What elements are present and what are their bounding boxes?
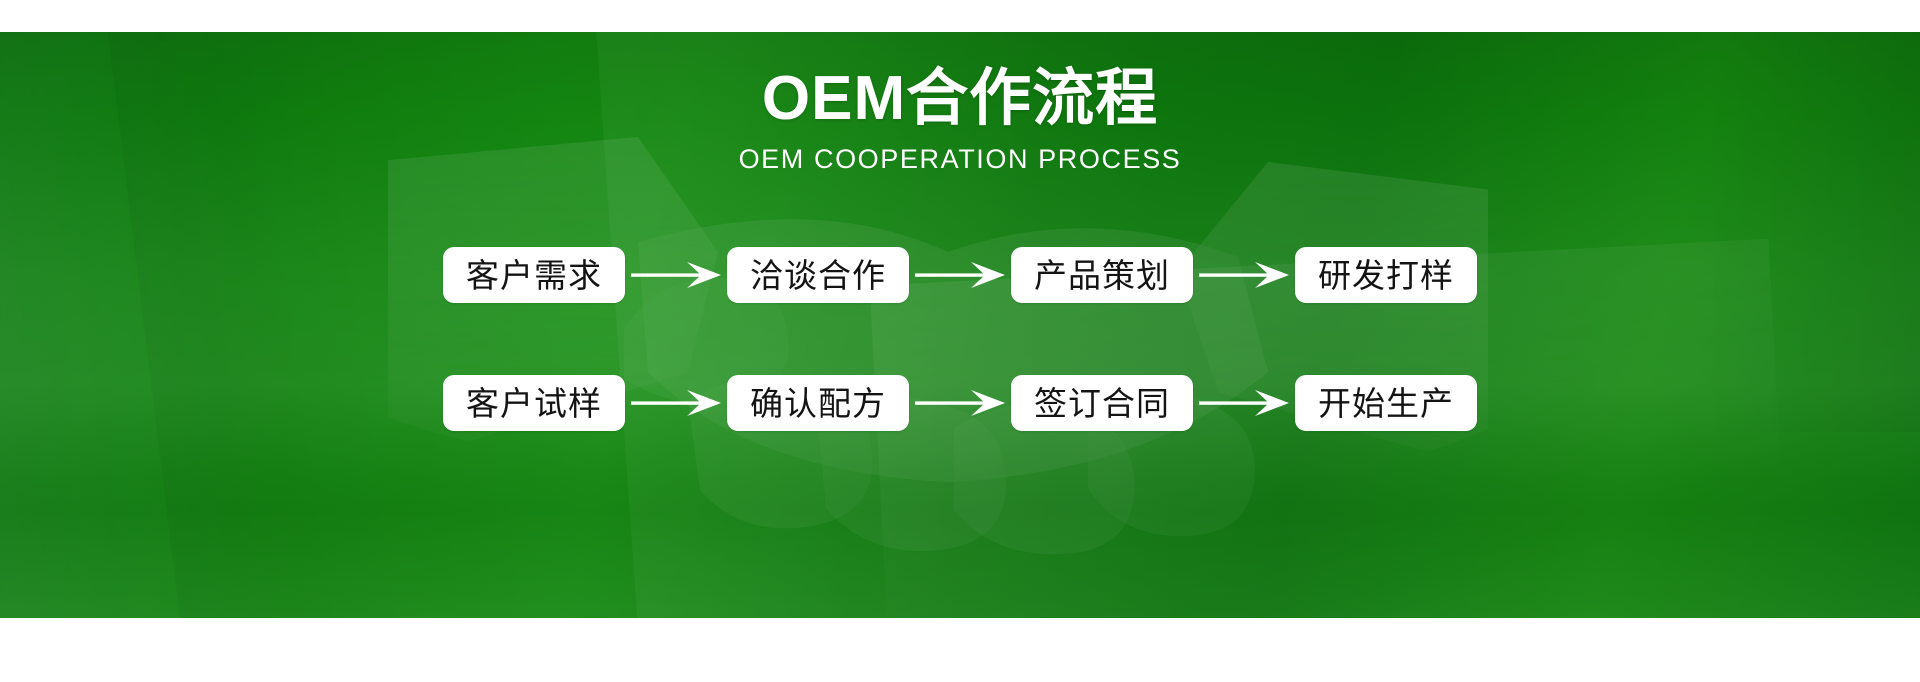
page-title: OEM合作流程 bbox=[0, 68, 1920, 130]
step-box[interactable]: 签订合同 bbox=[1011, 375, 1193, 431]
step-label: 签订合同 bbox=[1034, 387, 1170, 420]
step-box[interactable]: 确认配方 bbox=[727, 375, 909, 431]
step-label: 确认配方 bbox=[750, 387, 886, 420]
oem-process-banner: OEM合作流程 OEM COOPERATION PROCESS 客户需求 洽谈合… bbox=[0, 0, 1920, 682]
arrow-right-icon bbox=[909, 255, 1011, 295]
background-streak bbox=[0, 478, 1920, 618]
process-row-1: 客户需求 洽谈合作 产品策划 bbox=[0, 247, 1920, 303]
page-subtitle: OEM COOPERATION PROCESS bbox=[0, 146, 1920, 173]
step-box[interactable]: 研发打样 bbox=[1295, 247, 1477, 303]
step-box[interactable]: 产品策划 bbox=[1011, 247, 1193, 303]
step-box[interactable]: 客户试样 bbox=[443, 375, 625, 431]
header-block: OEM合作流程 OEM COOPERATION PROCESS bbox=[0, 68, 1920, 173]
green-banner-band: OEM合作流程 OEM COOPERATION PROCESS 客户需求 洽谈合… bbox=[0, 32, 1920, 618]
step-label: 客户需求 bbox=[466, 259, 602, 292]
step-box[interactable]: 洽谈合作 bbox=[727, 247, 909, 303]
arrow-right-icon bbox=[909, 383, 1011, 423]
process-flow: 客户需求 洽谈合作 产品策划 bbox=[0, 247, 1920, 431]
step-label: 洽谈合作 bbox=[750, 259, 886, 292]
step-label: 开始生产 bbox=[1318, 387, 1454, 420]
arrow-right-icon bbox=[625, 383, 727, 423]
arrow-right-icon bbox=[1193, 255, 1295, 295]
arrow-right-icon bbox=[625, 255, 727, 295]
step-box[interactable]: 开始生产 bbox=[1295, 375, 1477, 431]
step-box[interactable]: 客户需求 bbox=[443, 247, 625, 303]
process-row-2: 客户试样 确认配方 签订合同 bbox=[0, 375, 1920, 431]
step-label: 客户试样 bbox=[466, 387, 602, 420]
step-label: 产品策划 bbox=[1034, 259, 1170, 292]
step-label: 研发打样 bbox=[1318, 259, 1454, 292]
arrow-right-icon bbox=[1193, 383, 1295, 423]
